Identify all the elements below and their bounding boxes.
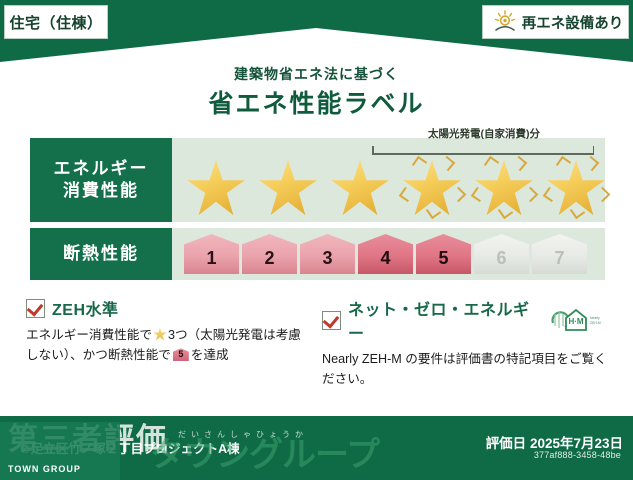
- net-zero-title: ネット・ゼロ・エネルギー: [348, 296, 541, 344]
- insulation-level-scale: 1 2 3 4 5 6 7: [184, 234, 587, 274]
- net-zero-checkbox-icon: [322, 311, 341, 330]
- insulation-level-1: 1: [184, 234, 239, 274]
- svg-text:ZEH-M: ZEH-M: [590, 321, 601, 325]
- level-number: 3: [322, 249, 332, 274]
- insulation-performance-row: 断熱性能 1 2 3 4 5 6: [30, 228, 605, 280]
- insulation-level-7: 7: [532, 234, 587, 274]
- insulation-level-4: 4: [358, 234, 413, 274]
- insulation-performance-tag: 断熱性能: [30, 228, 172, 280]
- evaluation-id: 377af888-3458-48be: [534, 450, 621, 460]
- solar-bracket-label: 太陽光発電(自家消費)分: [368, 126, 600, 141]
- zeh-title: ZEH水準: [52, 296, 119, 320]
- energy-stars-area: 太陽光発電(自家消費)分: [172, 138, 605, 222]
- label-content: 建築物省エネ法に基づく 省エネ性能ラベル エネルギー 消費性能 太陽光発電(自家…: [0, 34, 633, 416]
- net-zero-description: Nearly ZEH-M の要件は評価書の特記項目をご覧ください。: [322, 349, 608, 390]
- level-number: 6: [496, 249, 506, 274]
- insulation-level-5: 5: [416, 234, 471, 274]
- energy-performance-tag: エネルギー 消費性能: [30, 138, 172, 222]
- svg-text:Nearly: Nearly: [590, 316, 600, 320]
- zeh-text-star-value: 3つ（太陽光発電: [168, 328, 263, 342]
- energy-tag-line2: 消費性能: [63, 180, 139, 202]
- star-4-solar: [398, 156, 466, 218]
- net-zero-header: ネット・ゼロ・エネルギー H·M Nearly ZEH-M: [322, 296, 608, 344]
- star-3: [326, 156, 394, 218]
- zeh-header: ZEH水準: [26, 296, 312, 320]
- level-number: 7: [554, 249, 564, 274]
- zeh-description: エネルギー消費性能で3つ（太陽光発電は考慮しない）、かつ断熱性能で5を達成: [26, 325, 312, 366]
- star-rating: [182, 156, 610, 218]
- insulation-level-3: 3: [300, 234, 355, 274]
- zeh-m-house-logo: H·M Nearly ZEH-M: [550, 307, 608, 333]
- zeh-text-part1: エネルギー消費性能で: [26, 328, 152, 342]
- level-number: 4: [380, 249, 390, 274]
- star-5-solar: [470, 156, 538, 218]
- inline-house-icon: 5: [173, 348, 189, 361]
- insulation-levels-area: 1 2 3 4 5 6 7: [172, 228, 605, 280]
- zeh-text-part3: を達成: [191, 348, 229, 362]
- insulation-level-2: 2: [242, 234, 297, 274]
- level-number: 2: [264, 249, 274, 274]
- renewable-equipment-text: 再エネ設備あり: [522, 12, 624, 33]
- label-subtitle: 建築物省エネ法に基づく: [0, 64, 633, 84]
- watermark-town-group-en: TOWN GROUP: [8, 464, 81, 474]
- insulation-tag-label: 断熱性能: [63, 243, 139, 265]
- energy-tag-line1: エネルギー: [54, 158, 149, 180]
- label-title: 省エネ性能ラベル: [0, 84, 633, 120]
- building-type-text: 住宅（住棟）: [9, 12, 102, 33]
- zeh-standard-block: ZEH水準 エネルギー消費性能で3つ（太陽光発電は考慮しない）、かつ断熱性能で5…: [26, 296, 312, 366]
- net-zero-energy-block: ネット・ゼロ・エネルギー H·M Nearly ZEH-M Nearly ZEH…: [322, 296, 608, 390]
- svg-text:H·M: H·M: [568, 317, 583, 326]
- level-number: 5: [438, 249, 448, 274]
- energy-performance-row: エネルギー 消費性能 太陽光発電(自家消費)分: [30, 138, 605, 222]
- star-6-solar: [542, 156, 610, 218]
- energy-performance-label: 住宅（住棟） 再エネ設備あり 建築物省エネ法に基づく 省エネ性能ラベル: [0, 0, 633, 480]
- inline-house-value: 5: [173, 350, 189, 359]
- level-number: 1: [206, 249, 216, 274]
- insulation-level-6: 6: [474, 234, 529, 274]
- evaluation-date: 評価日 2025年7月23日: [486, 432, 623, 452]
- sun-icon: [492, 9, 518, 35]
- zeh-checkbox-icon: [26, 299, 45, 318]
- star-1: [182, 156, 250, 218]
- footer-band: ②足立区竹ノ塚２丁目プロジェクトA棟 評価日 2025年7月23日 377af8…: [0, 416, 633, 480]
- star-2: [254, 156, 322, 218]
- property-address: ②足立区竹ノ塚２丁目プロジェクトA棟: [20, 438, 450, 457]
- inline-star-icon: [153, 328, 167, 341]
